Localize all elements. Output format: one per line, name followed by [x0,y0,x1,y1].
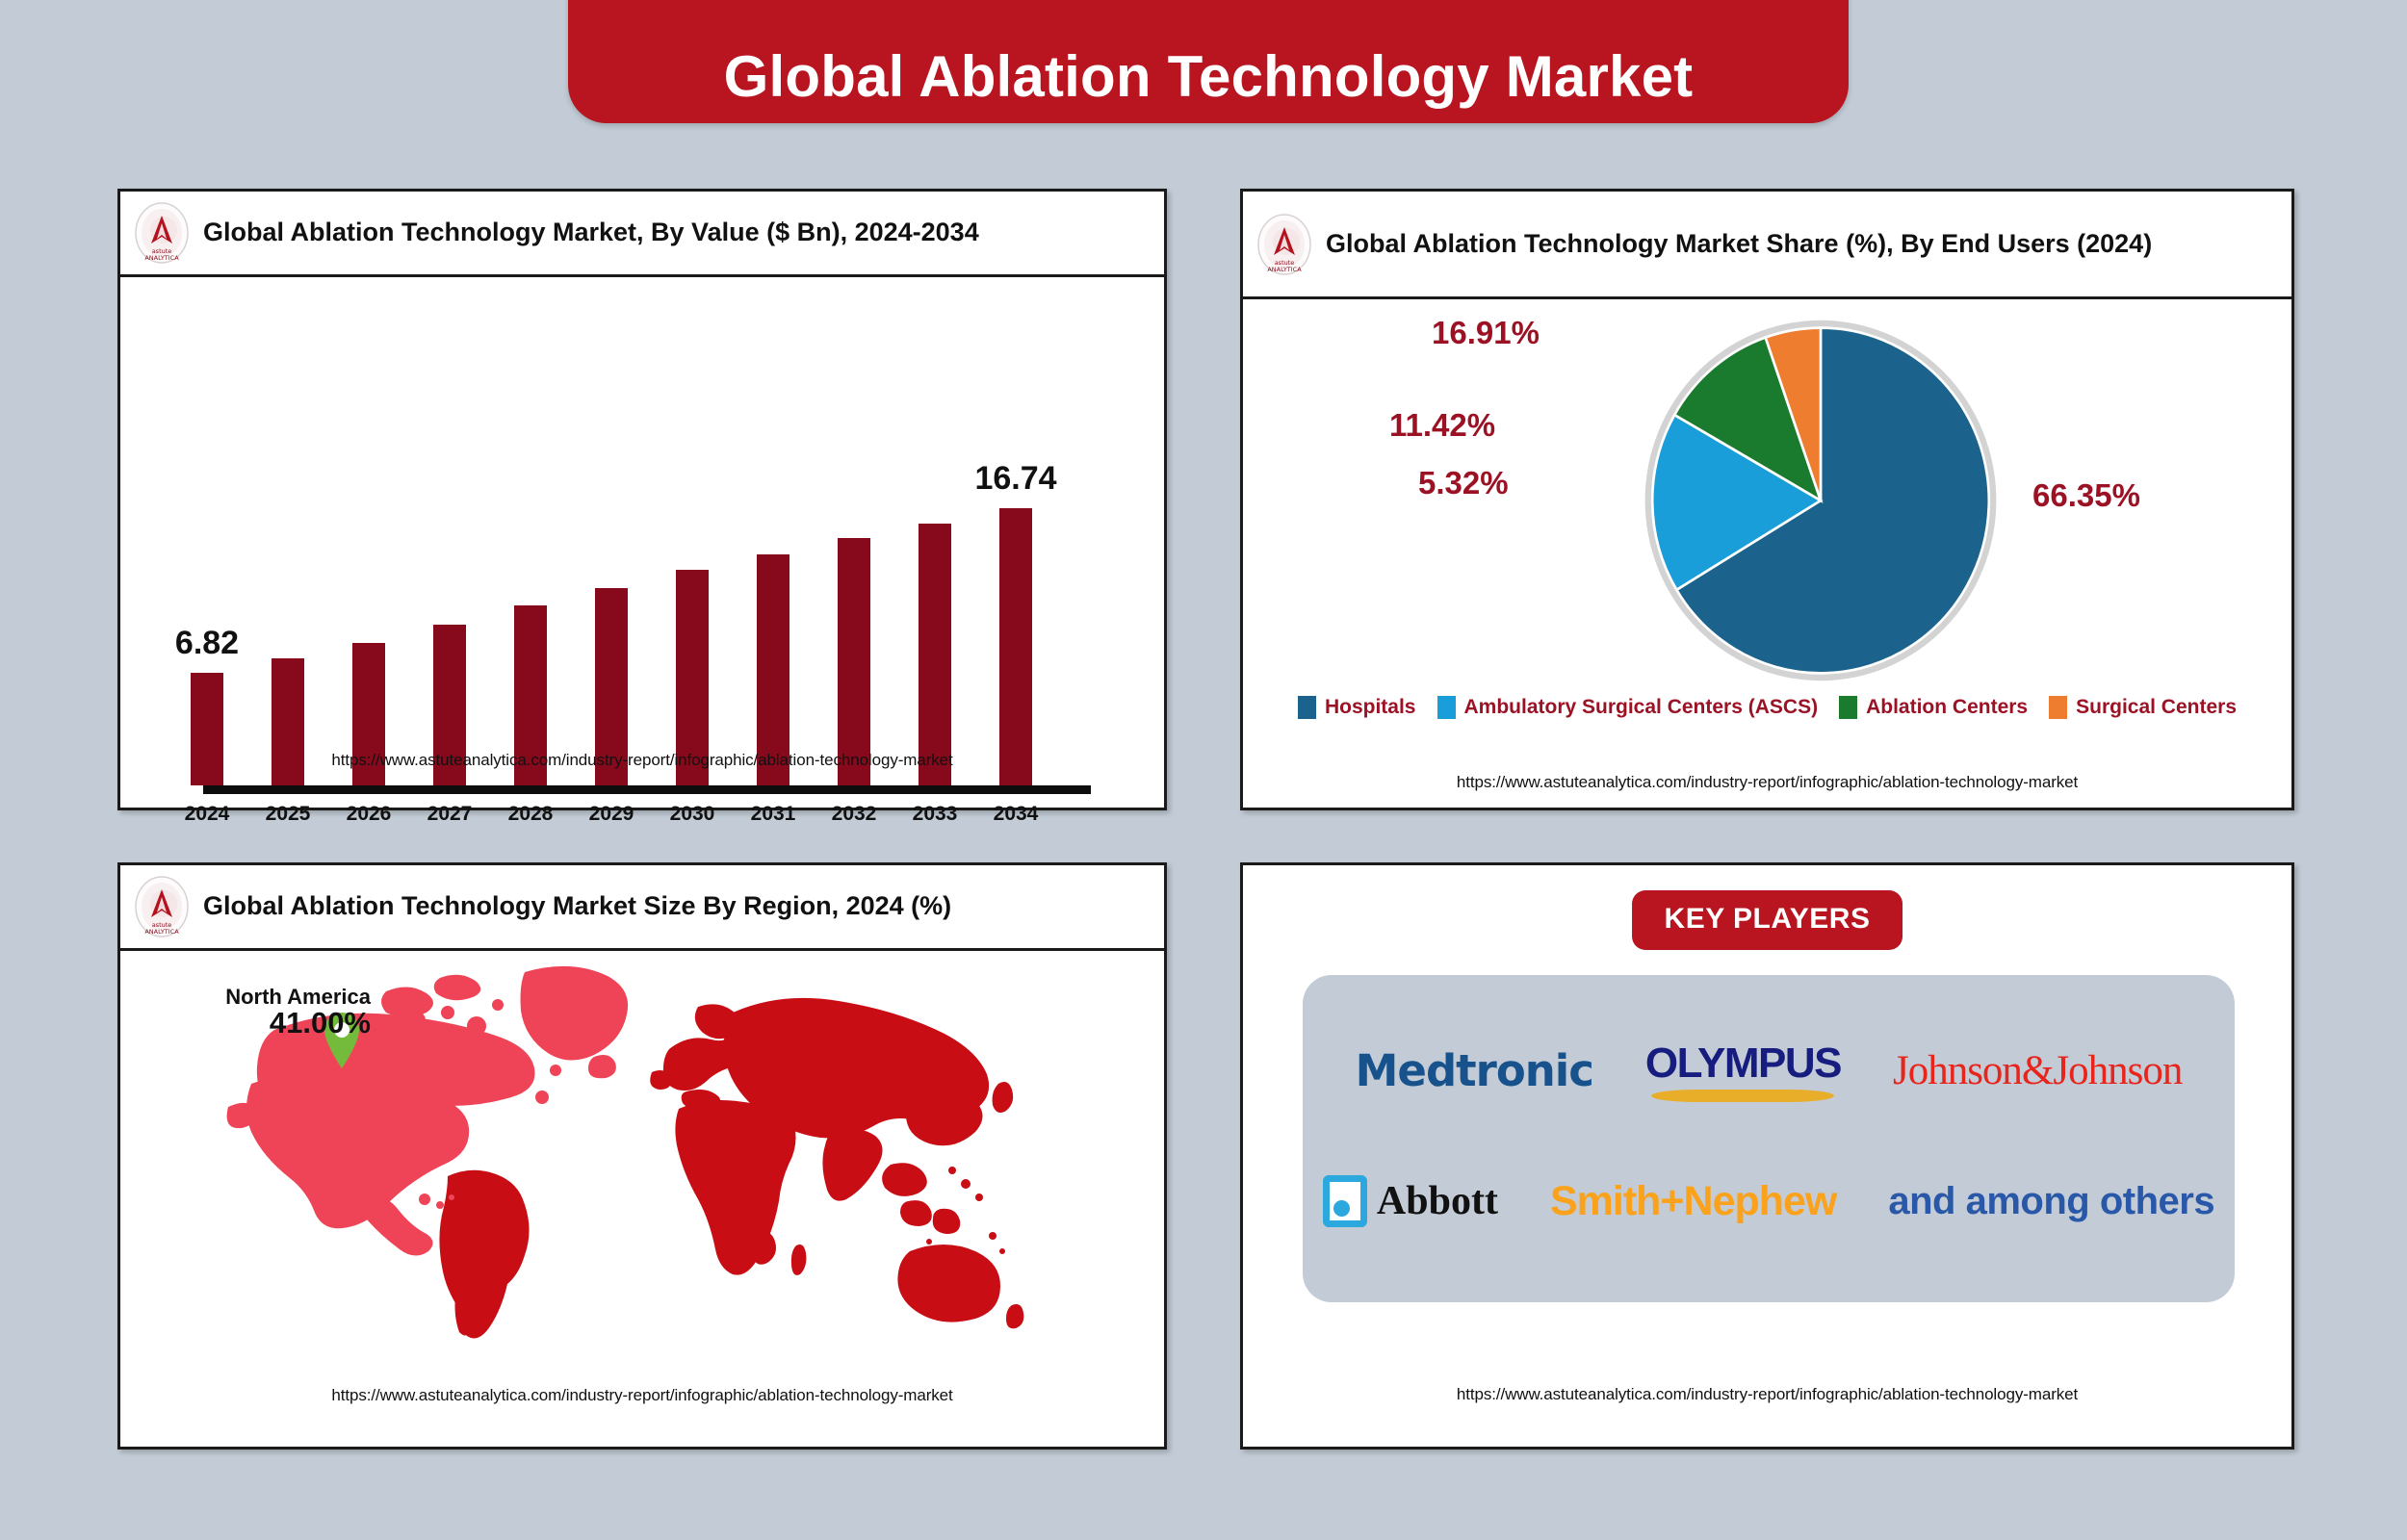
source-url-pie[interactable]: https://www.astuteanalytica.com/industry… [1243,773,2291,792]
panel-header-pie: astute ANALYTICA Global Ablation Technol… [1243,192,2291,299]
legend-item-ablation-centers[interactable]: Ablation Centers [1839,696,2028,719]
panel-body-map: North America 41.00% https://www.astutea… [120,951,1164,1374]
key-players-pill: KEY PLAYERS [1632,890,1903,950]
pie-graphic [1638,313,2004,688]
x-tick-2031: 2031 [730,803,816,826]
olympus-swoosh-icon [1651,1090,1834,1102]
panel-header-map: astute ANALYTICA Global Ablation Technol… [120,865,1164,951]
x-tick-2027: 2027 [406,803,493,826]
svg-text:ANALYTICA: ANALYTICA [1267,266,1302,273]
astute-analytica-logo-icon: astute ANALYTICA [1256,213,1312,276]
legend-swatch [1839,696,1857,719]
panel-header-bar: astute ANALYTICA Global Ablation Technol… [120,192,1164,277]
source-url-key[interactable]: https://www.astuteanalytica.com/industry… [1243,1385,2291,1404]
legend-swatch [2049,696,2067,719]
label-and-among-others: and among others [1888,1180,2214,1223]
panel-title-map: Global Ablation Technology Market Size B… [203,890,951,923]
logo-johnson-and-johnson[interactable]: Johnson&Johnson [1893,1047,2182,1094]
pie-label-hospitals: 66.35% [2032,477,2140,514]
bar-2034 [999,508,1032,785]
x-tick-2026: 2026 [325,803,412,826]
panel-body-key: KEY PLAYERS Medtronic OLYMPUS Johnson&Jo… [1243,865,2291,1447]
legend-item-hospitals[interactable]: Hospitals [1298,696,1416,719]
bar-chart: 2024202520262027202820292030203120322033… [120,277,1164,739]
panel-body-pie: 66.35% 16.91% 11.42% 5.32% HospitalsAmbu… [1243,299,2291,809]
astute-analytica-logo-icon: astute ANALYTICA [134,875,190,938]
region-value: 41.00% [149,1008,371,1039]
legend-label: Ambulatory Surgical Centers (ASCS) [1464,696,1819,719]
x-tick-2033: 2033 [892,803,978,826]
pie-legend: HospitalsAmbulatory Surgical Centers (AS… [1243,696,2291,719]
x-tick-2034: 2034 [972,803,1059,826]
value-label-2034: 16.74 [972,460,1059,498]
logo-smith-nephew[interactable]: Smith+Nephew [1550,1178,1836,1225]
x-tick-2024: 2024 [164,803,250,826]
panel-key-players: KEY PLAYERS Medtronic OLYMPUS Johnson&Jo… [1240,862,2294,1450]
panel-body-bar: 2024202520262027202820292030203120322033… [120,277,1164,739]
astute-analytica-logo-icon: astute ANALYTICA [134,201,190,265]
pie-label-ablation-centers: 11.42% [1389,407,1495,444]
region-callout: North America 41.00% [149,986,371,1039]
page-title-banner: Global Ablation Technology Market [568,0,1849,123]
panel-market-share-end-users: astute ANALYTICA Global Ablation Technol… [1240,189,2294,810]
source-url-map[interactable]: https://www.astuteanalytica.com/industry… [120,1386,1164,1405]
legend-swatch [1437,696,1456,719]
logo-abbott[interactable]: Abbott [1323,1175,1498,1227]
x-tick-2028: 2028 [487,803,574,826]
bar-2033 [919,524,951,785]
key-players-area: KEY PLAYERS Medtronic OLYMPUS Johnson&Jo… [1243,865,2291,1447]
panel-market-by-value: astute ANALYTICA Global Ablation Technol… [117,189,1167,810]
legend-item-ambulatory-surgical-centers-ascs-[interactable]: Ambulatory Surgical Centers (ASCS) [1437,696,1819,719]
x-tick-2032: 2032 [811,803,897,826]
panel-market-size-by-region: astute ANALYTICA Global Ablation Technol… [117,862,1167,1450]
panel-title-pie: Global Ablation Technology Market Share … [1326,228,2152,261]
key-players-row-1: Medtronic OLYMPUS Johnson&Johnson [1303,1017,2235,1123]
source-url-bar[interactable]: https://www.astuteanalytica.com/industry… [120,751,1164,770]
pie-label-ascs: 16.91% [1432,315,1540,351]
page-title: Global Ablation Technology Market [724,48,1694,106]
abbott-mark-icon [1323,1175,1367,1227]
logo-medtronic[interactable]: Medtronic [1356,1045,1593,1096]
bar-chart-axis [203,785,1091,794]
value-label-2024: 6.82 [164,625,250,662]
logo-olympus[interactable]: OLYMPUS [1645,1039,1841,1102]
svg-text:ANALYTICA: ANALYTICA [144,254,179,262]
svg-text:ANALYTICA: ANALYTICA [144,928,179,936]
legend-label: Surgical Centers [2076,696,2237,719]
key-players-box: Medtronic OLYMPUS Johnson&Johnson [1303,975,2235,1302]
panel-title-bar: Global Ablation Technology Market, By Va… [203,217,979,249]
key-players-row-2: Abbott Smith+Nephew and among others [1303,1148,2235,1254]
world-map: North America 41.00% [120,951,1164,1374]
pie-chart: 66.35% 16.91% 11.42% 5.32% HospitalsAmbu… [1243,299,2291,809]
legend-label: Hospitals [1325,696,1416,719]
bar-2032 [838,538,870,785]
legend-swatch [1298,696,1316,719]
x-tick-2029: 2029 [568,803,655,826]
x-tick-2025: 2025 [245,803,331,826]
legend-item-surgical-centers[interactable]: Surgical Centers [2049,696,2237,719]
infographic-page: Global Ablation Technology Market astute… [0,0,2407,1540]
x-tick-2030: 2030 [649,803,736,826]
legend-label: Ablation Centers [1866,696,2028,719]
pie-label-surgical-centers: 5.32% [1418,465,1509,501]
